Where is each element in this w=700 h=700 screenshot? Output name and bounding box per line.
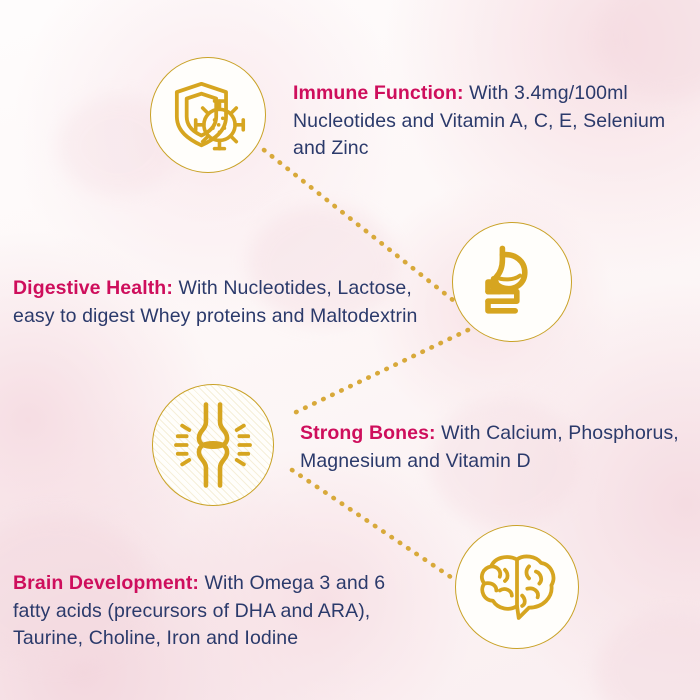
brain-icon <box>474 544 560 630</box>
text-block-bones: Strong Bones: With Calcium, Phosphorus, … <box>300 420 692 475</box>
heading-bones: Strong Bones: <box>300 422 436 444</box>
icon-circle-digestive <box>452 222 572 342</box>
stomach-intestine-icon <box>472 242 552 322</box>
icon-circle-immune <box>150 57 266 173</box>
bone-joint-icon <box>169 401 257 489</box>
heading-digestive: Digestive Health: <box>13 277 173 299</box>
text-block-immune: Immune Function: With 3.4mg/100ml Nucleo… <box>293 80 688 163</box>
icon-circle-brain <box>455 525 579 649</box>
text-block-digestive: Digestive Health: With Nucleotides, Lact… <box>13 275 438 330</box>
shield-virus-icon <box>167 74 249 156</box>
heading-brain: Brain Development: <box>13 572 199 594</box>
icon-circle-bones <box>152 384 274 506</box>
text-block-brain: Brain Development: With Omega 3 and 6 fa… <box>13 570 423 653</box>
infographic-canvas: Immune Function: With 3.4mg/100ml Nucleo… <box>0 0 700 700</box>
heading-immune: Immune Function: <box>293 82 464 104</box>
connector-digestive-to-bones <box>288 330 468 416</box>
